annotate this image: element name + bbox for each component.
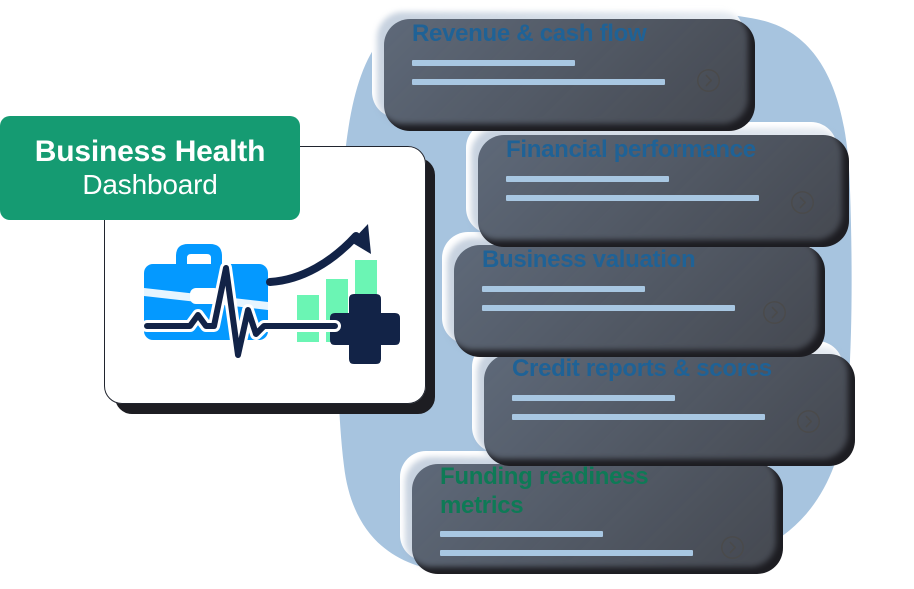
placeholder-line-2 (512, 414, 765, 420)
card-placeholder-lines (512, 395, 821, 420)
placeholder-line-1 (440, 531, 603, 537)
chevron-right-circle-icon[interactable] (720, 535, 745, 560)
card-revenue-cash-flow[interactable]: Revenue & cash flow (372, 6, 743, 118)
placeholder-line-2 (412, 79, 665, 85)
placeholder-line-1 (482, 286, 645, 292)
business-health-illustration (130, 222, 400, 382)
card-business-valuation[interactable]: Business valuation (442, 232, 813, 344)
chevron-right-circle-icon[interactable] (790, 190, 815, 215)
card-financial-performance[interactable]: Financial performance (466, 122, 837, 234)
bar-chart-bar-1 (297, 295, 319, 342)
card-placeholder-lines (506, 176, 815, 201)
card-placeholder-lines (412, 60, 721, 85)
chevron-right-circle-icon[interactable] (762, 300, 787, 325)
badge-title-line-1: Business Health (35, 136, 265, 168)
card-credit-reports-scores[interactable]: Credit reports & scores (472, 341, 843, 453)
card-title: Revenue & cash flow (412, 20, 721, 48)
growth-arrow-head (351, 224, 371, 254)
placeholder-line-2 (506, 195, 759, 201)
card-title: Business valuation (482, 246, 791, 274)
briefcase-handle-shape (176, 244, 222, 264)
card-title: Credit reports & scores (512, 355, 821, 383)
placeholder-line-2 (482, 305, 735, 311)
placeholder-line-1 (506, 176, 669, 182)
card-title: Financial performance (506, 136, 815, 164)
card-title: Funding readiness metrics (440, 463, 705, 521)
placeholder-line-1 (412, 60, 575, 66)
placeholder-line-1 (512, 395, 675, 401)
badge-title-line-2: Dashboard (82, 169, 217, 200)
chevron-right-circle-icon[interactable] (796, 409, 821, 434)
business-health-dashboard-graphic: Business Health Dashboard Revenue & cash… (0, 0, 914, 589)
card-funding-readiness-metrics[interactable]: Funding readiness metrics (400, 451, 771, 561)
chevron-right-circle-icon[interactable] (696, 68, 721, 93)
growth-arrow-curve (270, 236, 356, 282)
card-placeholder-lines (482, 286, 791, 311)
card-placeholder-lines (440, 531, 749, 556)
business-health-dashboard-badge: Business Health Dashboard (0, 116, 300, 220)
placeholder-line-2 (440, 550, 693, 556)
